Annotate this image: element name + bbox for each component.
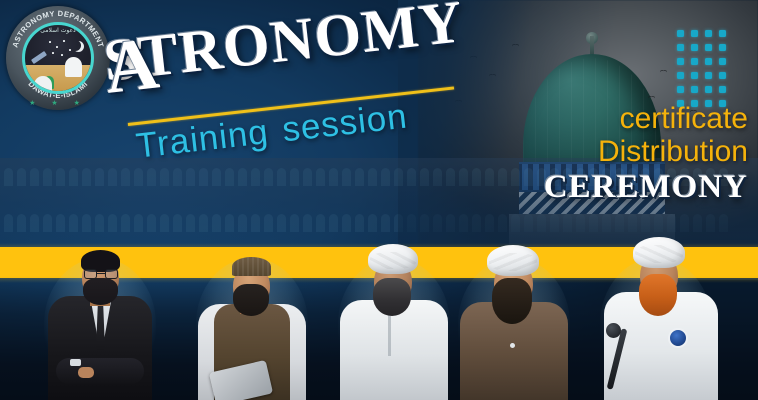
person-3-description: man in white turban with dark grey beard… xyxy=(334,230,335,231)
event-banner: ASTRONOMY DEPARTMENT DAWAT-E-ISLAMI دعوت… xyxy=(0,0,758,400)
person-4-button xyxy=(510,343,515,348)
person-2-figure: man wearing brown prayer cap, black bear… xyxy=(192,236,312,400)
person-2-beard xyxy=(233,284,269,316)
person-5-figure: man in white turban with orange henna be… xyxy=(596,224,726,400)
person-2-description: man wearing brown prayer cap, black bear… xyxy=(192,236,193,237)
microphone-head xyxy=(606,323,621,338)
person-2-cap-texture xyxy=(232,257,271,276)
person-1-hand xyxy=(78,367,94,378)
person-1-cuff xyxy=(70,359,81,366)
speaker-portraits: man in black suit with eyeglasses and bl… xyxy=(0,0,758,400)
person-5-beard xyxy=(639,274,677,316)
person-3-figure: man in white turban with dark grey beard… xyxy=(334,230,454,400)
person-3-turban-folds xyxy=(370,252,416,269)
person-1-beard xyxy=(83,278,118,305)
person-1-figure: man in black suit with eyeglasses and bl… xyxy=(40,232,160,400)
person-4-description: man in white turban with long dark beard… xyxy=(454,232,455,233)
person-5-badge xyxy=(668,328,688,348)
person-4-figure: man in white turban with long dark beard… xyxy=(454,232,574,400)
person-5-description: man in white turban with orange henna be… xyxy=(596,224,597,225)
person-5-turban-folds xyxy=(635,245,683,263)
person-1-description: man in black suit with eyeglasses and bl… xyxy=(40,232,41,233)
person-3-beard xyxy=(373,278,411,316)
person-4-beard xyxy=(492,278,532,324)
person-4-turban-folds xyxy=(489,253,537,271)
